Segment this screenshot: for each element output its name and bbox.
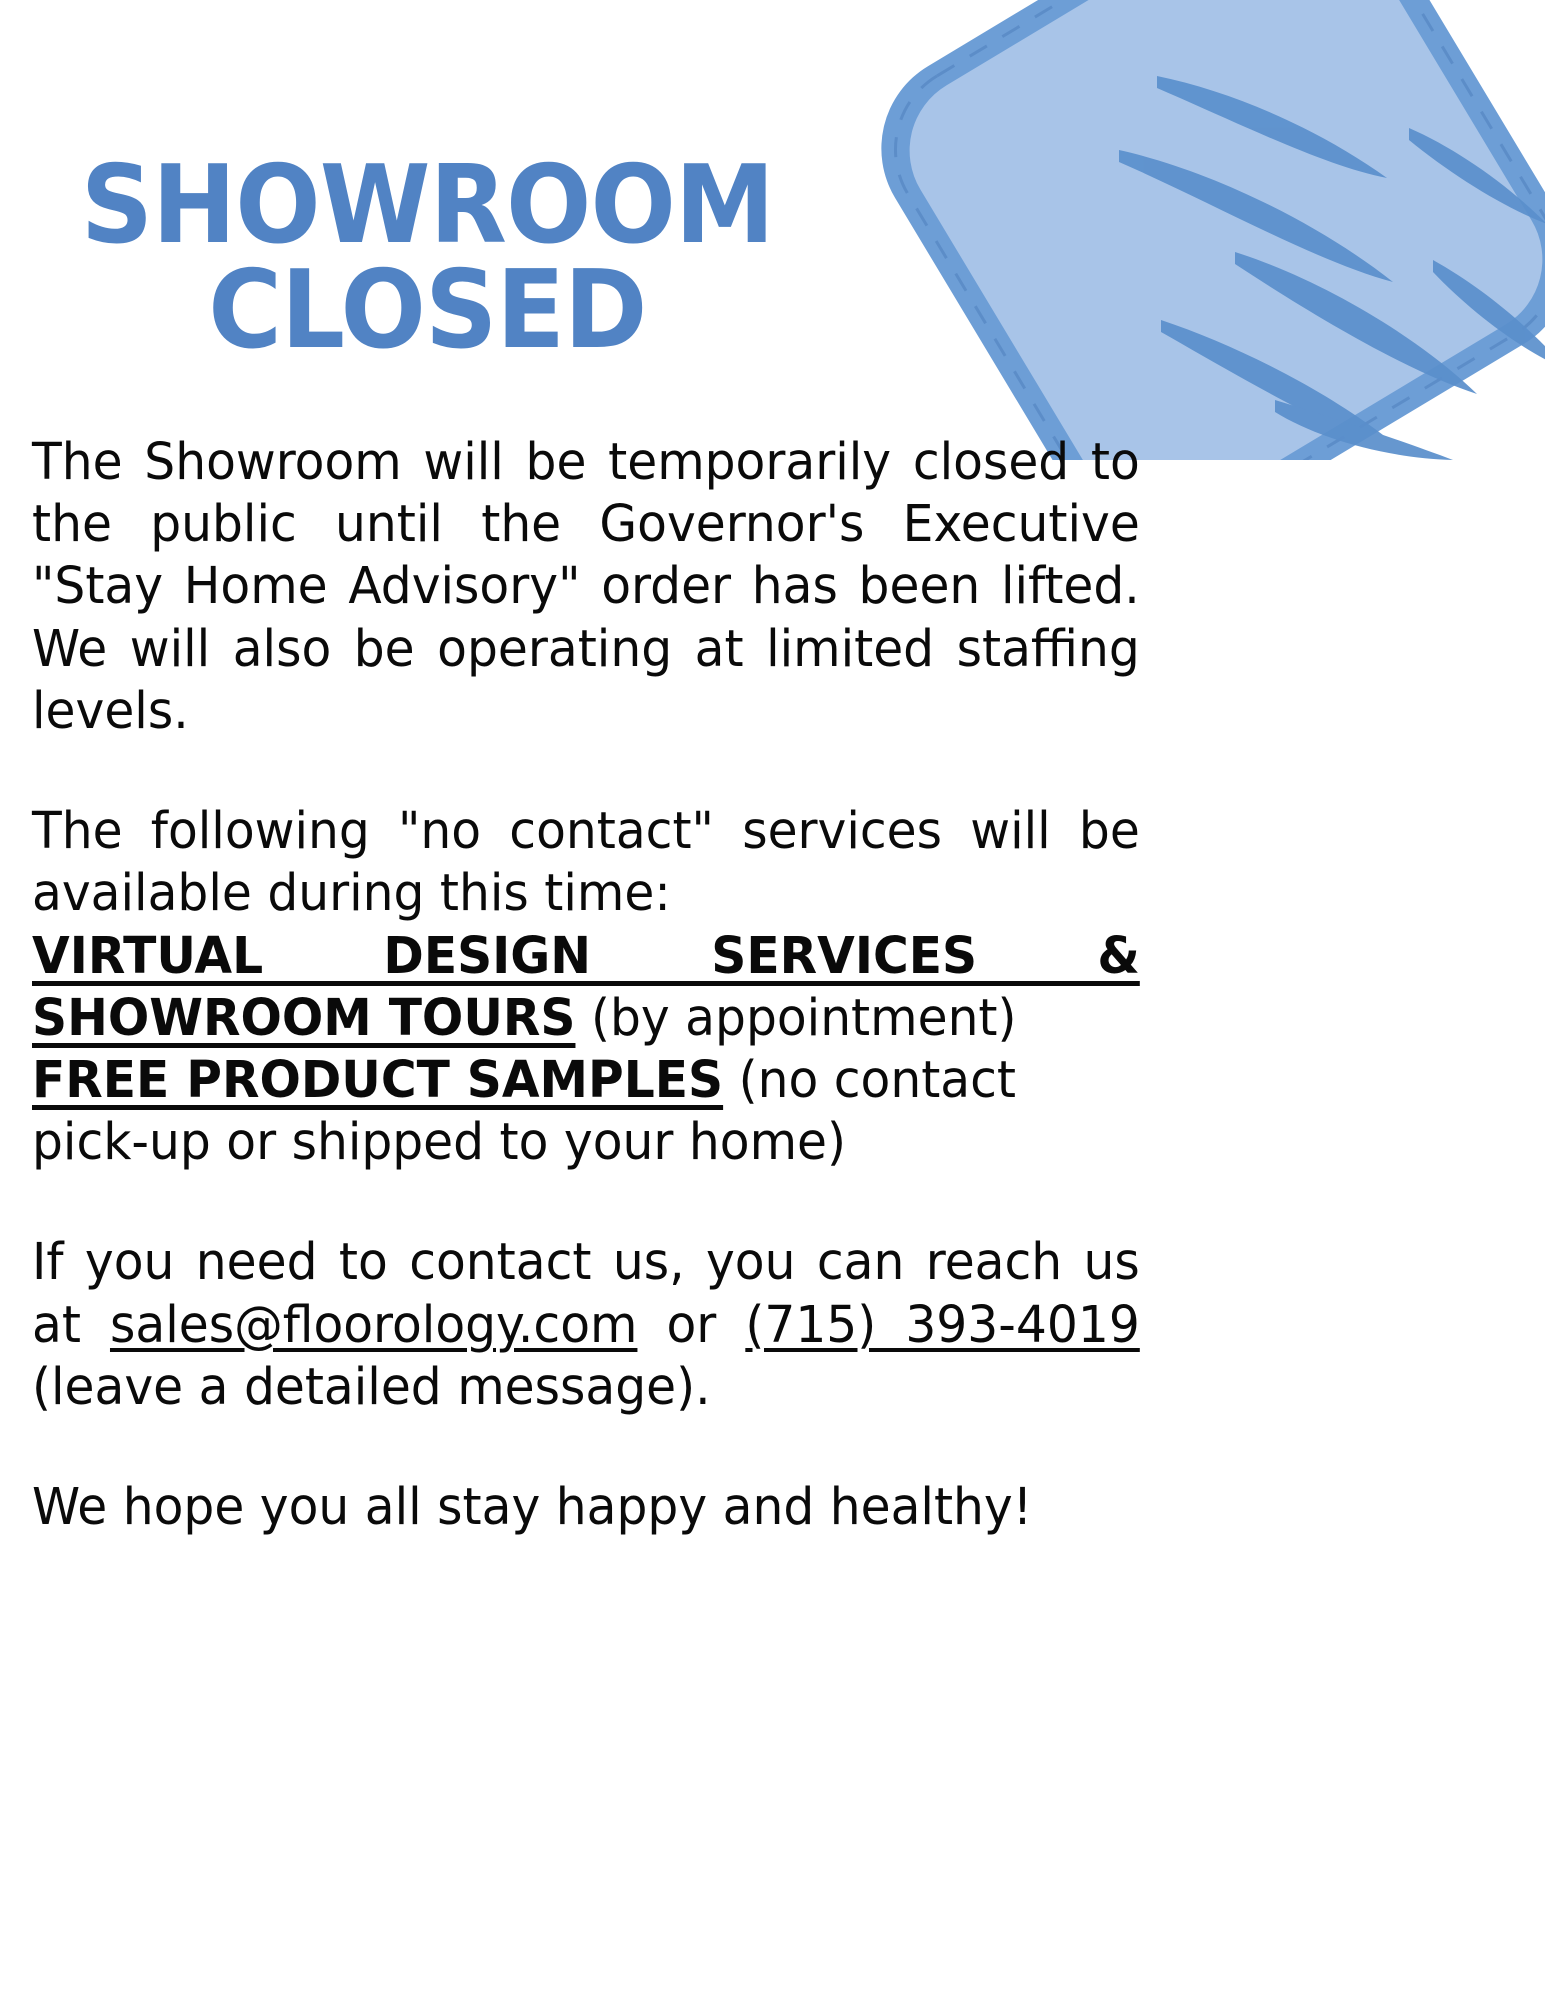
contact-email-link[interactable]: sales@floorology.com xyxy=(110,1296,637,1355)
ear-loop-strap xyxy=(993,0,1236,460)
contact-phone-link[interactable]: (715) 393-4019 xyxy=(745,1296,1139,1355)
page-title: SHOWROOM CLOSED xyxy=(60,154,795,364)
mask-pleats xyxy=(1119,76,1545,460)
mask-body xyxy=(846,0,1545,460)
poster-canvas: SHOWROOM CLOSED The Showroom will be tem… xyxy=(0,0,1545,2000)
paragraph-contact: If you need to contact us, you can reach… xyxy=(32,1232,1140,1419)
headline-line-1: SHOWROOM xyxy=(60,154,795,259)
contact-suffix-text: (leave a detailed message). xyxy=(32,1358,711,1417)
service-item-2: FREE PRODUCT SAMPLES (no contact pick-up… xyxy=(32,1050,1140,1174)
contact-conjunction: or xyxy=(637,1296,745,1355)
services-intro: The following "no contact" services will… xyxy=(32,801,1140,925)
service-1-detail: (by appointment) xyxy=(591,989,1017,1048)
paragraph-closing: We hope you all stay happy and healthy! xyxy=(32,1477,1140,1539)
headline-line-2: CLOSED xyxy=(60,259,795,364)
notice-body: The Showroom will be temporarily closed … xyxy=(32,432,1140,1539)
paragraph-services: The following "no contact" services will… xyxy=(32,801,1140,1174)
service-item-1: VIRTUAL DESIGN SERVICES & SHOWROOM TOURS… xyxy=(32,926,1140,1050)
paragraph-closure-notice: The Showroom will be temporarily closed … xyxy=(32,432,1140,743)
face-mask-illustration xyxy=(805,0,1545,460)
service-2-name: FREE PRODUCT SAMPLES xyxy=(32,1051,723,1110)
